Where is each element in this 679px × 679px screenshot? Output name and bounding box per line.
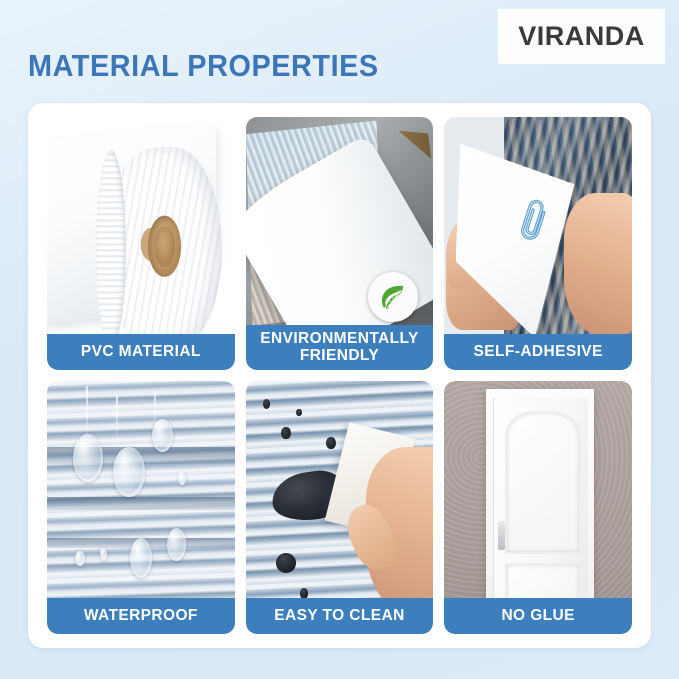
feature-card: PVC MATERIAL ENVIRONMENTALLY (28, 103, 651, 648)
rolled-sheet-tip-shape (399, 119, 434, 166)
feature-label-easy-to-clean: EASY TO CLEAN (246, 598, 434, 634)
feature-label-line: NO GLUE (448, 607, 628, 624)
right-hand-shape (564, 193, 632, 335)
waterproof-image (47, 381, 235, 634)
stain-spot (281, 427, 290, 440)
door-frame-shape (486, 389, 595, 622)
pvc-roll-edge-shape (96, 150, 126, 347)
water-droplet (167, 528, 186, 561)
stain-spot (326, 437, 335, 450)
feature-tile-waterproof: WATERPROOF (47, 381, 235, 634)
feature-label-self-adhesive: SELF-ADHESIVE (444, 334, 632, 370)
feature-label-line: WATERPROOF (51, 607, 231, 624)
door-handle-shape (498, 521, 505, 550)
water-droplet (73, 434, 103, 482)
feature-label-line: FRIENDLY (250, 347, 430, 364)
stain-spot (263, 399, 271, 409)
feature-label-line: EASY TO CLEAN (250, 607, 430, 624)
hand-shape (366, 447, 434, 614)
feature-tile-environmentally-friendly: ENVIRONMENTALLY FRIENDLY (246, 117, 434, 370)
pvc-core-inner-shape (154, 226, 175, 267)
feature-label-line: SELF-ADHESIVE (448, 343, 628, 360)
door-panel-top-shape (505, 411, 580, 554)
water-droplet (100, 548, 108, 561)
brand-name: VIRANDA (518, 21, 645, 52)
feature-tile-pvc-material: PVC MATERIAL (47, 117, 235, 370)
door-leaf-shape (493, 398, 588, 621)
pvc-core-shape (148, 216, 180, 277)
feature-tile-no-glue: NO GLUE (444, 381, 632, 634)
water-trail-shape (116, 396, 118, 442)
feature-label-line: ENVIRONMENTALLY (250, 330, 430, 347)
pvc-roll-image (47, 117, 235, 370)
water-droplet (75, 551, 84, 566)
stain-spot (276, 553, 297, 573)
water-droplet (130, 538, 153, 578)
feature-label-waterproof: WATERPROOF (47, 598, 235, 634)
stain-spot (296, 409, 302, 417)
feature-label-line: PVC MATERIAL (51, 343, 231, 360)
feature-label-pvc-material: PVC MATERIAL (47, 334, 235, 370)
feature-tile-easy-to-clean: EASY TO CLEAN (246, 381, 434, 634)
leaf-icon (368, 272, 418, 322)
no-glue-image (444, 381, 632, 634)
feature-label-environmentally-friendly: ENVIRONMENTALLY FRIENDLY (246, 325, 434, 370)
page-title: MATERIAL PROPERTIES (28, 48, 379, 84)
water-droplet (113, 447, 145, 498)
feature-grid: PVC MATERIAL ENVIRONMENTALLY (47, 117, 632, 634)
page-header: MATERIAL PROPERTIES VIRANDA (0, 0, 679, 103)
feature-tile-self-adhesive: SELF-ADHESIVE (444, 117, 632, 370)
feature-label-no-glue: NO GLUE (444, 598, 632, 634)
water-droplet (152, 419, 173, 452)
self-adhesive-image (444, 117, 632, 370)
easy-to-clean-image (246, 381, 434, 634)
brand-logo: VIRANDA (498, 9, 665, 64)
water-droplet (178, 472, 186, 485)
surface-band-shape (47, 497, 235, 510)
